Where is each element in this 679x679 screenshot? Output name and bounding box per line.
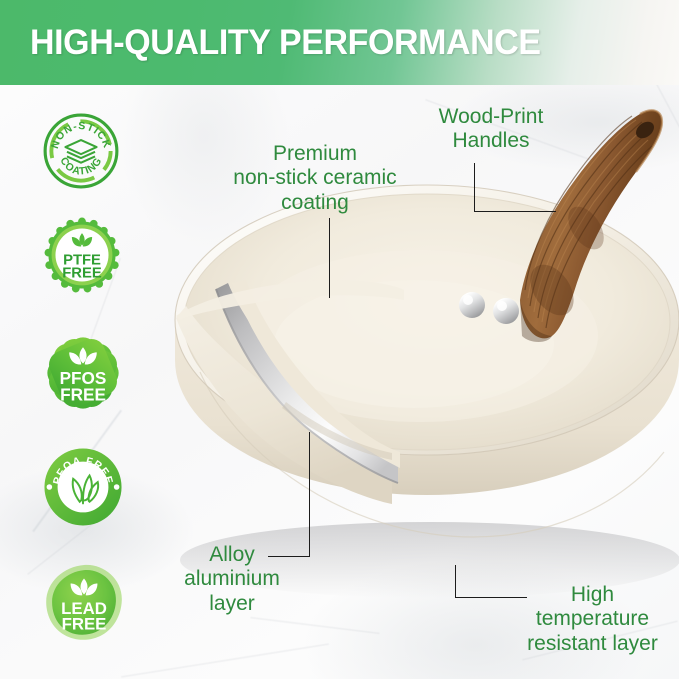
header-banner: HIGH-QUALITY PERFORMANCE (0, 0, 679, 85)
callout-wood-print-handles-line1: Wood-Print (408, 105, 574, 129)
callout-alloy-aluminium-layer-line3: layer (140, 592, 324, 616)
callout-high-temperature-resistant-layer: High temperature resistant layer (505, 583, 679, 656)
callout-premium-coating-line2: non-stick ceramic (215, 166, 415, 190)
leader-line-wood-print-handles-vertical (474, 163, 475, 212)
pfos-free-badge-graphic: PFOS FREE (40, 330, 126, 416)
non-stick-coating-badge: NON-STICK COATING (42, 112, 120, 190)
callout-wood-print-handles-line2: Handles (408, 129, 574, 153)
rivet-left (459, 292, 485, 318)
leader-line-high-temp-horizontal (455, 597, 527, 598)
callout-high-temp-line1: High (505, 583, 679, 607)
callout-high-temp-line3: resistant layer (505, 632, 679, 656)
lead-free-line2: FREE (62, 615, 107, 634)
callout-premium-coating-line1: Premium (215, 142, 415, 166)
leader-line-premium-coating (329, 218, 330, 298)
ptfe-free-line2: FREE (62, 266, 102, 282)
infographic-page: HIGH-QUALITY PERFORMANCE NON-STICK COATI… (0, 0, 679, 679)
ring-dot-left (47, 484, 53, 490)
leader-line-alloy-horizontal (268, 556, 310, 557)
ptfe-free-badge-graphic: PTFE FREE (43, 216, 121, 294)
leader-line-wood-print-handles-horizontal (474, 211, 556, 212)
pfos-free-badge: PFOS FREE (40, 330, 126, 416)
callout-wood-print-handles: Wood-Print Handles (408, 105, 574, 154)
non-stick-coating-badge-graphic: NON-STICK COATING (42, 112, 120, 190)
callout-high-temp-line2: temperature (505, 607, 679, 631)
callout-premium-coating: Premium non-stick ceramic coating (215, 142, 415, 215)
page-title: HIGH-QUALITY PERFORMANCE (30, 23, 541, 63)
ptfe-free-badge: PTFE FREE (43, 216, 121, 294)
callout-alloy-aluminium-layer: Alloy aluminium layer (140, 543, 324, 616)
lead-free-badge-graphic: LEAD FREE (42, 560, 126, 644)
rivet-right (493, 298, 519, 324)
lead-free-badge: LEAD FREE (42, 560, 126, 644)
pfoa-free-badge: PFOA FREE PFOA FREE (42, 446, 124, 528)
pfos-free-line2: FREE (60, 385, 106, 405)
leader-line-high-temp-vertical (455, 565, 456, 598)
callout-premium-coating-line3: coating (215, 191, 415, 215)
ring-dot-right (114, 484, 120, 490)
pfoa-free-badge-graphic: PFOA FREE PFOA FREE (42, 446, 124, 528)
layers-stack-icon (65, 140, 96, 163)
callout-alloy-aluminium-layer-line2: aluminium (140, 567, 324, 591)
leader-line-alloy-vertical (309, 432, 310, 557)
